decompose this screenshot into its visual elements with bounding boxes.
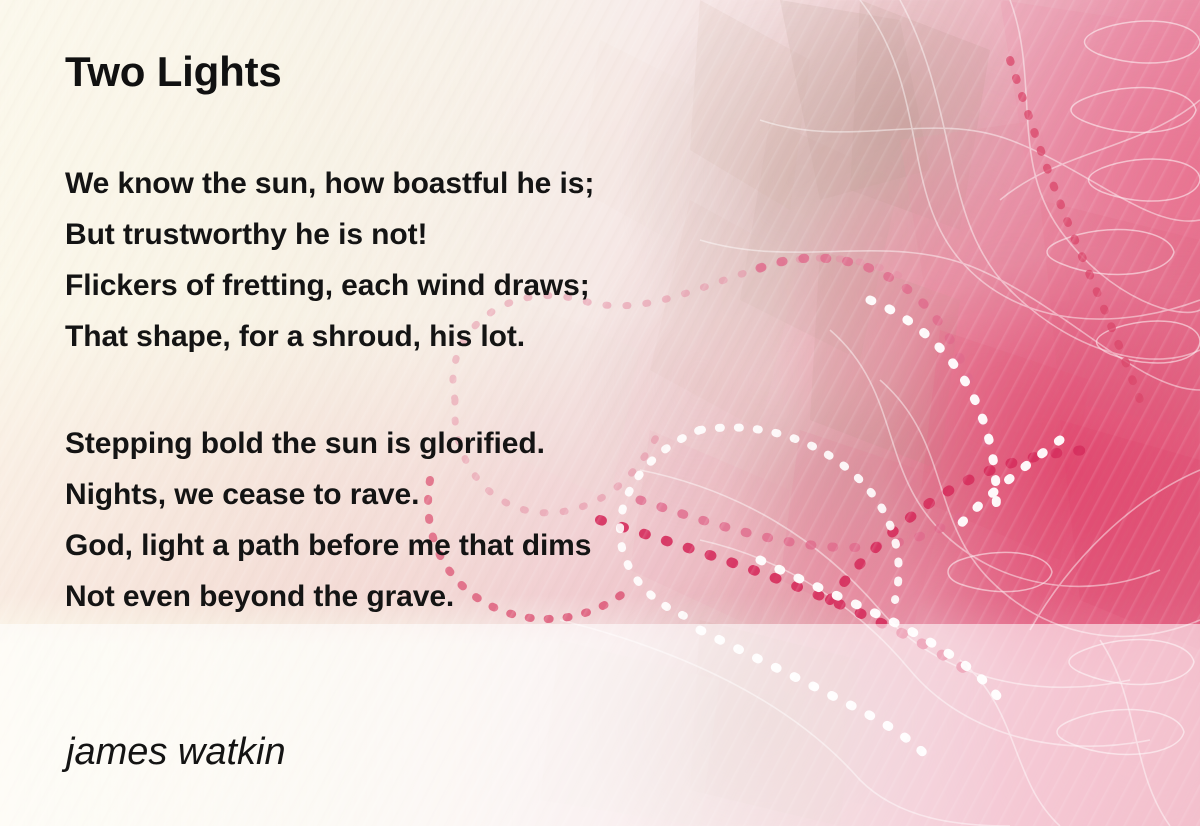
poem-line: We know the sun, how boastful he is; <box>65 158 594 209</box>
poem-card: Two Lights We know the sun, how boastful… <box>0 0 1200 826</box>
poem-title: Two Lights <box>65 48 282 96</box>
poem-content: Two Lights We know the sun, how boastful… <box>0 0 1200 826</box>
poem-line: Not even beyond the grave. <box>65 571 591 622</box>
poem-line: But trustworthy he is not! <box>65 209 594 260</box>
poem-line: Stepping bold the sun is glorified. <box>65 418 591 469</box>
poem-stanza-2: Stepping bold the sun is glorified. Nigh… <box>65 418 591 622</box>
poem-author-signature: james watkin <box>66 731 286 774</box>
poem-stanza-1: We know the sun, how boastful he is; But… <box>65 158 594 362</box>
poem-line: Nights, we cease to rave. <box>65 469 591 520</box>
poem-line: Flickers of fretting, each wind draws; <box>65 260 594 311</box>
poem-line: That shape, for a shroud, his lot. <box>65 311 594 362</box>
poem-line: God, light a path before me that dims <box>65 520 591 571</box>
